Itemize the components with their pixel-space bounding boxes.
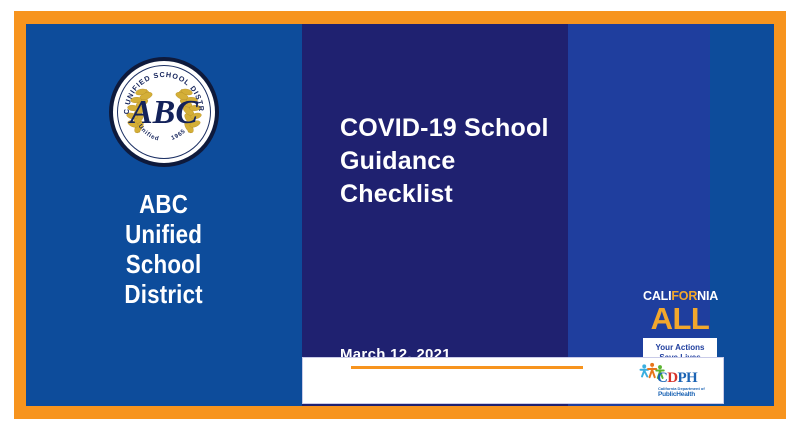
cdph-publichealth-line: PublicHealth [658, 391, 695, 398]
california-all-word: ALL [643, 304, 717, 333]
district-name-line-2: Unified [125, 219, 203, 249]
slide-canvas: ABC UNIFIED SCHOOL DISTRICT Unified 1965… [26, 24, 774, 406]
cdph-letter-c: C [657, 370, 667, 386]
tagline-line-1: Your Actions [645, 343, 715, 353]
presentation-slide: ABC UNIFIED SCHOOL DISTRICT Unified 1965… [0, 0, 800, 432]
slide-title-line-2: Guidance [340, 145, 570, 178]
slide-footer-bar: CDPH California Department of PublicHeal… [302, 357, 724, 404]
footer-orange-rule [351, 366, 583, 369]
cdph-letter-d: D [667, 370, 677, 386]
slide-title-line-1: COVID-19 School [340, 112, 570, 145]
district-identity-block: ABC UNIFIED SCHOOL DISTRICT Unified 1965… [26, 24, 302, 406]
slide-title: COVID-19 School Guidance Checklist [340, 112, 570, 211]
district-name-line-4: District [125, 279, 203, 309]
district-name-line-1: ABC [125, 189, 203, 219]
slide-title-line-3: Checklist [340, 178, 570, 211]
cdph-letters-ph: PH [677, 370, 697, 386]
cdph-logo: CDPH California Department of PublicHeal… [637, 361, 709, 401]
abc-unified-school-district-seal-icon: ABC UNIFIED SCHOOL DISTRICT Unified 1965… [109, 57, 219, 167]
cdph-acronym: CDPH [657, 371, 697, 386]
slide-title-block: COVID-19 School Guidance Checklist [340, 112, 570, 211]
seal-monogram: ABC [130, 96, 198, 130]
district-name-line-3: School [125, 249, 203, 279]
district-name: ABC Unified School District [125, 189, 203, 310]
